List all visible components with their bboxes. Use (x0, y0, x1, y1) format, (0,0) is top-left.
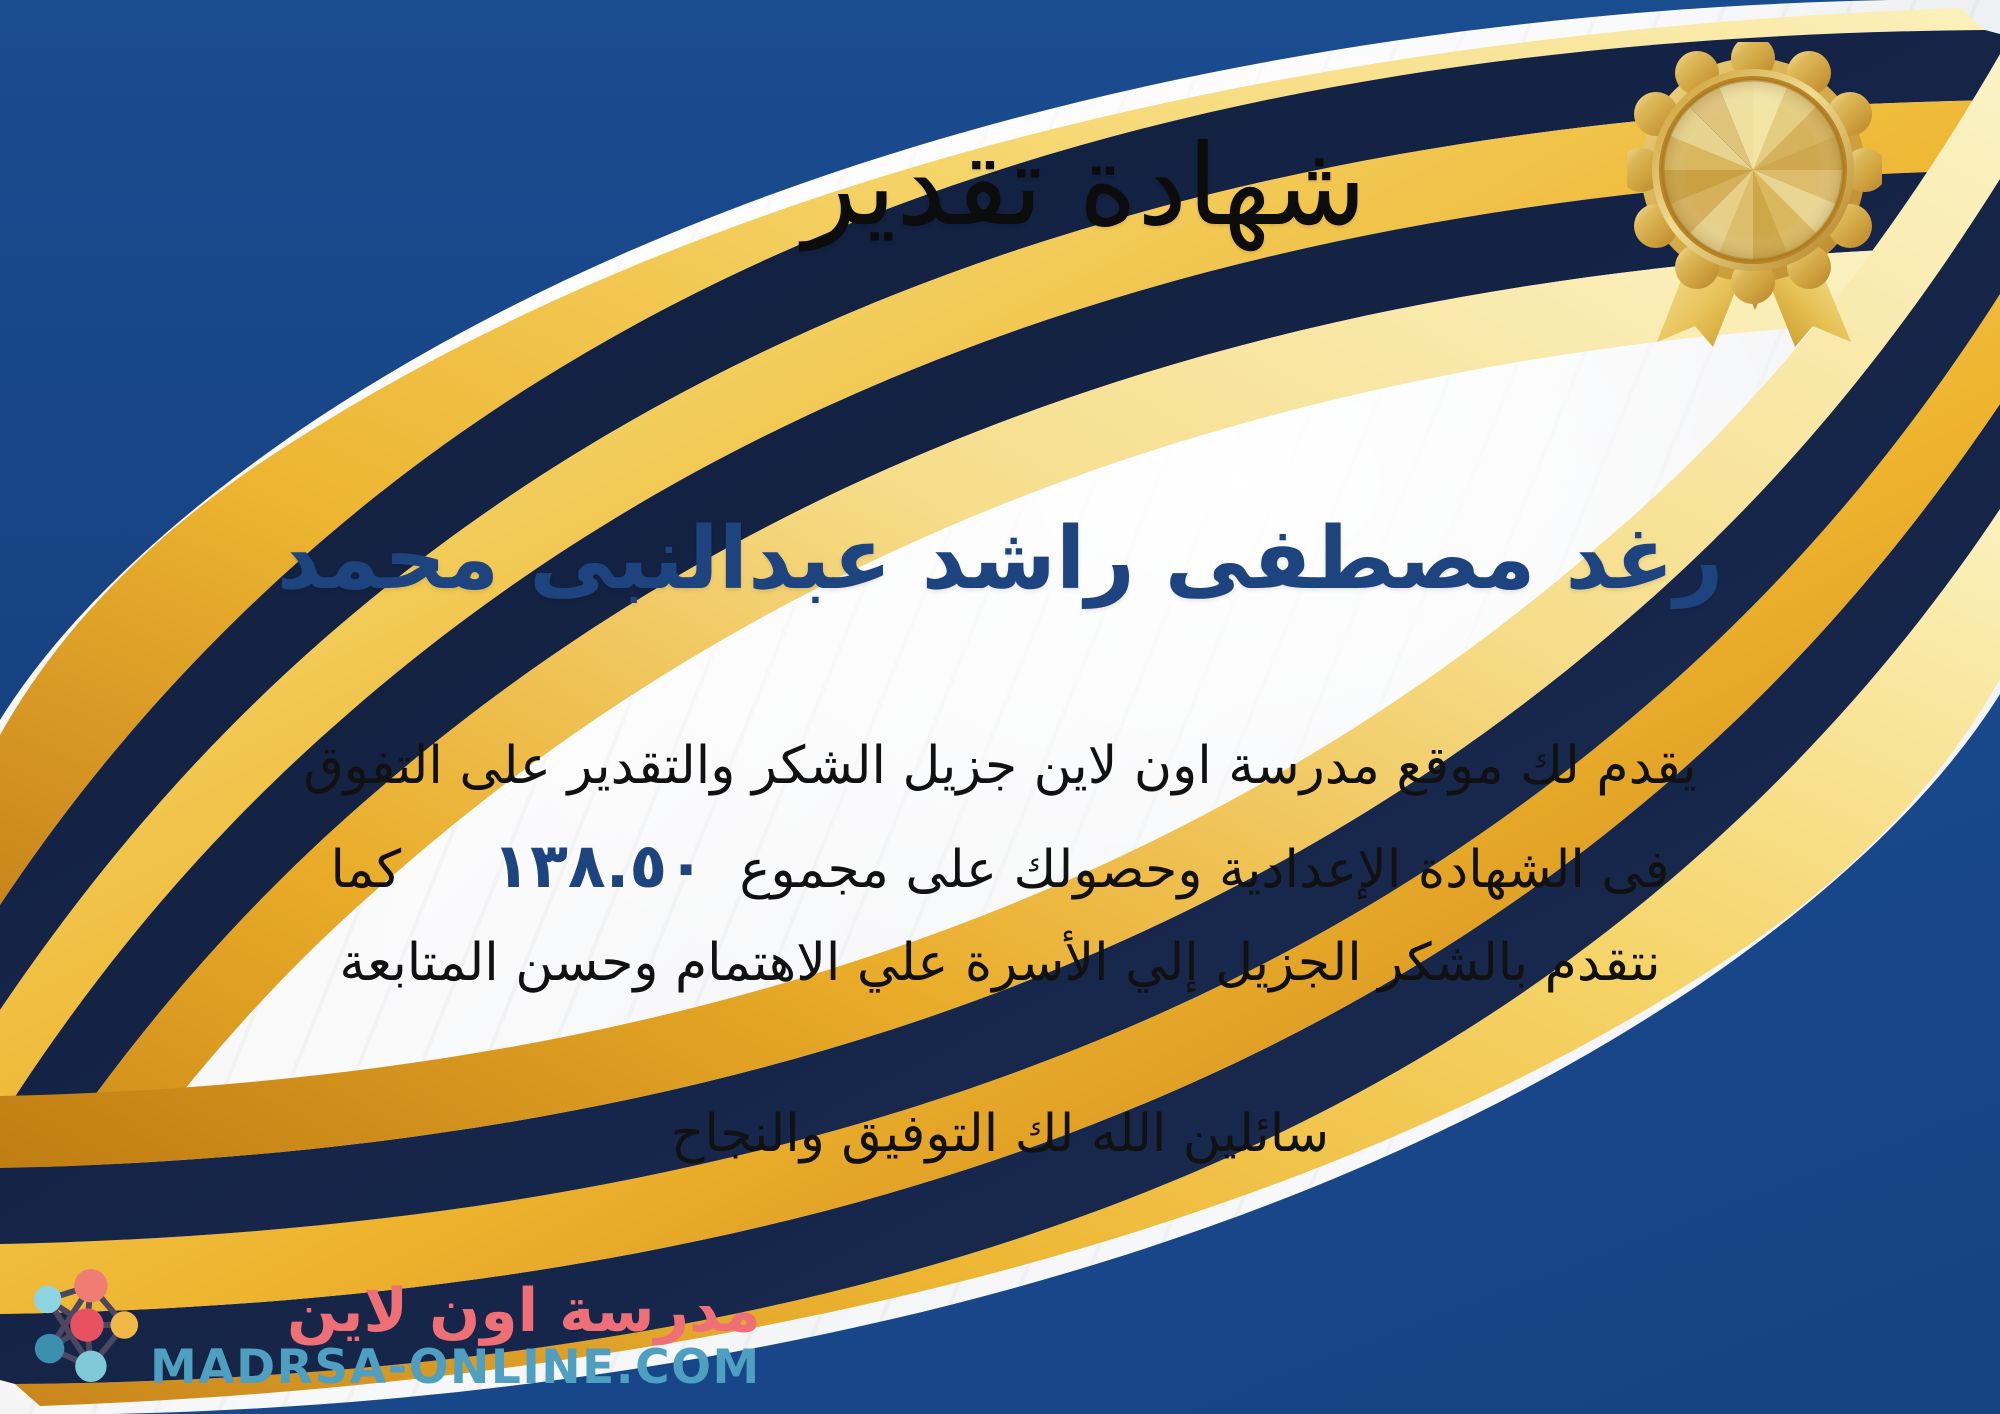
body-line-2-suffix: كما (331, 840, 402, 900)
certificate-body: يقدم لك موقع مدرسة اون لاين جزيل الشكر و… (60, 722, 1940, 1009)
brand-logo[interactable]: مدرسة اون لاين MADRSA-ONLINE.COM (26, 1264, 761, 1392)
gold-award-rosette-icon (1627, 42, 1882, 352)
body-line-1: يقدم لك موقع مدرسة اون لاين جزيل الشكر و… (60, 722, 1940, 812)
network-graph-icon (26, 1264, 144, 1386)
brand-text-block: مدرسة اون لاين MADRSA-ONLINE.COM (150, 1281, 761, 1392)
body-line-2-prefix: فى الشهادة الإعدادية وحصولك على مجموع (740, 840, 1670, 900)
brand-arabic-name: مدرسة اون لاين (150, 1281, 761, 1342)
brand-website: MADRSA-ONLINE.COM (150, 1343, 761, 1392)
closing-wish: سائلين الله لك التوفيق والنجاح (0, 1104, 2000, 1164)
score-value: ١٣٨.٥٠ (474, 829, 723, 902)
body-line-3: نتقدم بالشكر الجزيل إلي الأسرة علي الاهت… (60, 919, 1940, 1009)
recipient-name: رغد مصطفى راشد عبدالنبى محمد (0, 508, 2000, 611)
body-line-2: فى الشهادة الإعدادية وحصولك على مجموع ١٣… (60, 812, 1940, 919)
certificate-canvas: شهادة تقدير رغد مصطفى راشد عبدالنبى محمد… (0, 0, 2000, 1414)
